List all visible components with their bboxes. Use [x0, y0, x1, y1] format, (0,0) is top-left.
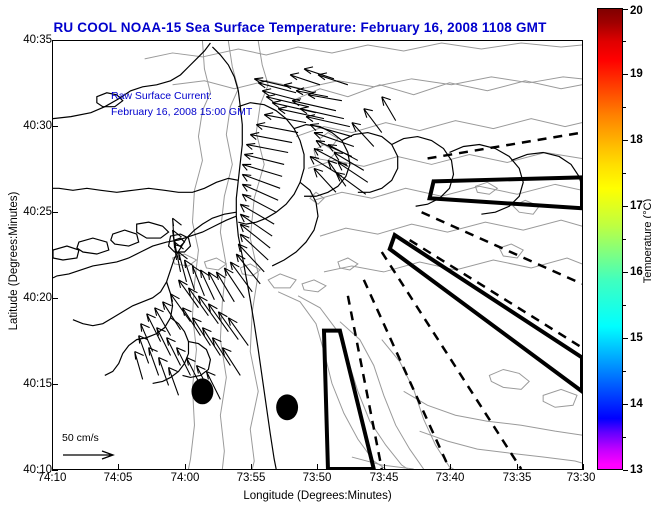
colorbar-tick: [623, 272, 628, 273]
colorbar-tick: [623, 206, 628, 207]
y-axis-title: Latitude (Degrees:Minutes): [8, 161, 20, 361]
colorbar: [597, 8, 623, 470]
figure-title: RU COOL NOAA-15 Sea Surface Temperature:…: [0, 20, 600, 35]
x-tick-label: 73:35: [503, 472, 532, 484]
x-tick: [517, 464, 518, 470]
y-tick: [52, 298, 58, 299]
colorbar-tick: [623, 74, 628, 75]
x-tick-label: 73:30: [567, 472, 596, 484]
colorbar-minor-tick: [623, 437, 626, 438]
colorbar-tick: [623, 338, 628, 339]
y-tick-label: 40:15: [23, 378, 52, 390]
y-tick-label: 40:10: [23, 464, 52, 476]
annotation-line-2: February 16, 2008 15:00 GMT: [111, 106, 252, 118]
x-tick-label: 73:55: [237, 472, 266, 484]
x-axis-title: Longitude (Degrees:Minutes): [0, 490, 635, 502]
x-tick-label: 74:05: [104, 472, 133, 484]
station-markers: [191, 378, 298, 420]
colorbar-tick-label: 16: [630, 266, 643, 278]
y-tick-label: 40:20: [23, 292, 52, 304]
colorbar-tick-label: 13: [630, 464, 643, 476]
x-tick: [317, 464, 318, 470]
y-tick-label: 40:30: [23, 120, 52, 132]
x-tick-label: 74:00: [171, 472, 200, 484]
figure-canvas: RU COOL NOAA-15 Sea Surface Temperature:…: [0, 0, 651, 518]
x-tick: [251, 464, 252, 470]
survey-swath-polygons: [324, 177, 582, 469]
annotation-line-1: Raw Surface Current:: [111, 90, 212, 102]
x-tick-label: 73:50: [303, 472, 332, 484]
arrow-right-icon: [62, 449, 118, 461]
x-tick: [450, 464, 451, 470]
colorbar-minor-tick: [623, 41, 626, 42]
colorbar-minor-tick: [623, 107, 626, 108]
x-tick: [583, 464, 584, 470]
colorbar-tick-label: 17: [630, 200, 643, 212]
y-tick: [52, 126, 58, 127]
y-tick: [52, 212, 58, 213]
colorbar-minor-tick: [623, 173, 626, 174]
y-tick: [52, 40, 58, 41]
colorbar-minor-tick: [623, 305, 626, 306]
y-tick: [52, 470, 58, 471]
dashed-tracks: [348, 133, 582, 469]
y-tick: [52, 384, 58, 385]
y-tick-label: 40:25: [23, 206, 52, 218]
x-tick-label: 73:45: [370, 472, 399, 484]
scale-legend-label: 50 cm/s: [62, 432, 118, 444]
y-tick-label: 40:35: [23, 34, 52, 46]
x-tick: [185, 464, 186, 470]
colorbar-tick: [623, 140, 628, 141]
colorbar-title: Temperature (°C): [642, 166, 651, 316]
scale-legend: 50 cm/s: [62, 432, 118, 466]
x-tick: [384, 464, 385, 470]
colorbar-tick: [623, 404, 628, 405]
colorbar-tick: [623, 9, 628, 10]
colorbar-tick-label: 14: [630, 398, 643, 410]
colorbar-minor-tick: [623, 239, 626, 240]
colorbar-tick-label: 20: [630, 5, 643, 17]
colorbar-tick-label: 15: [630, 332, 643, 344]
x-tick-label: 73:40: [436, 472, 465, 484]
colorbar-tick-label: 19: [630, 68, 643, 80]
map-plot-area[interactable]: Raw Surface Current: February 16, 2008 1…: [52, 40, 583, 470]
x-tick: [118, 464, 119, 470]
colorbar-minor-tick: [623, 371, 626, 372]
colorbar-tick: [623, 470, 628, 471]
colorbar-tick-label: 18: [630, 134, 643, 146]
